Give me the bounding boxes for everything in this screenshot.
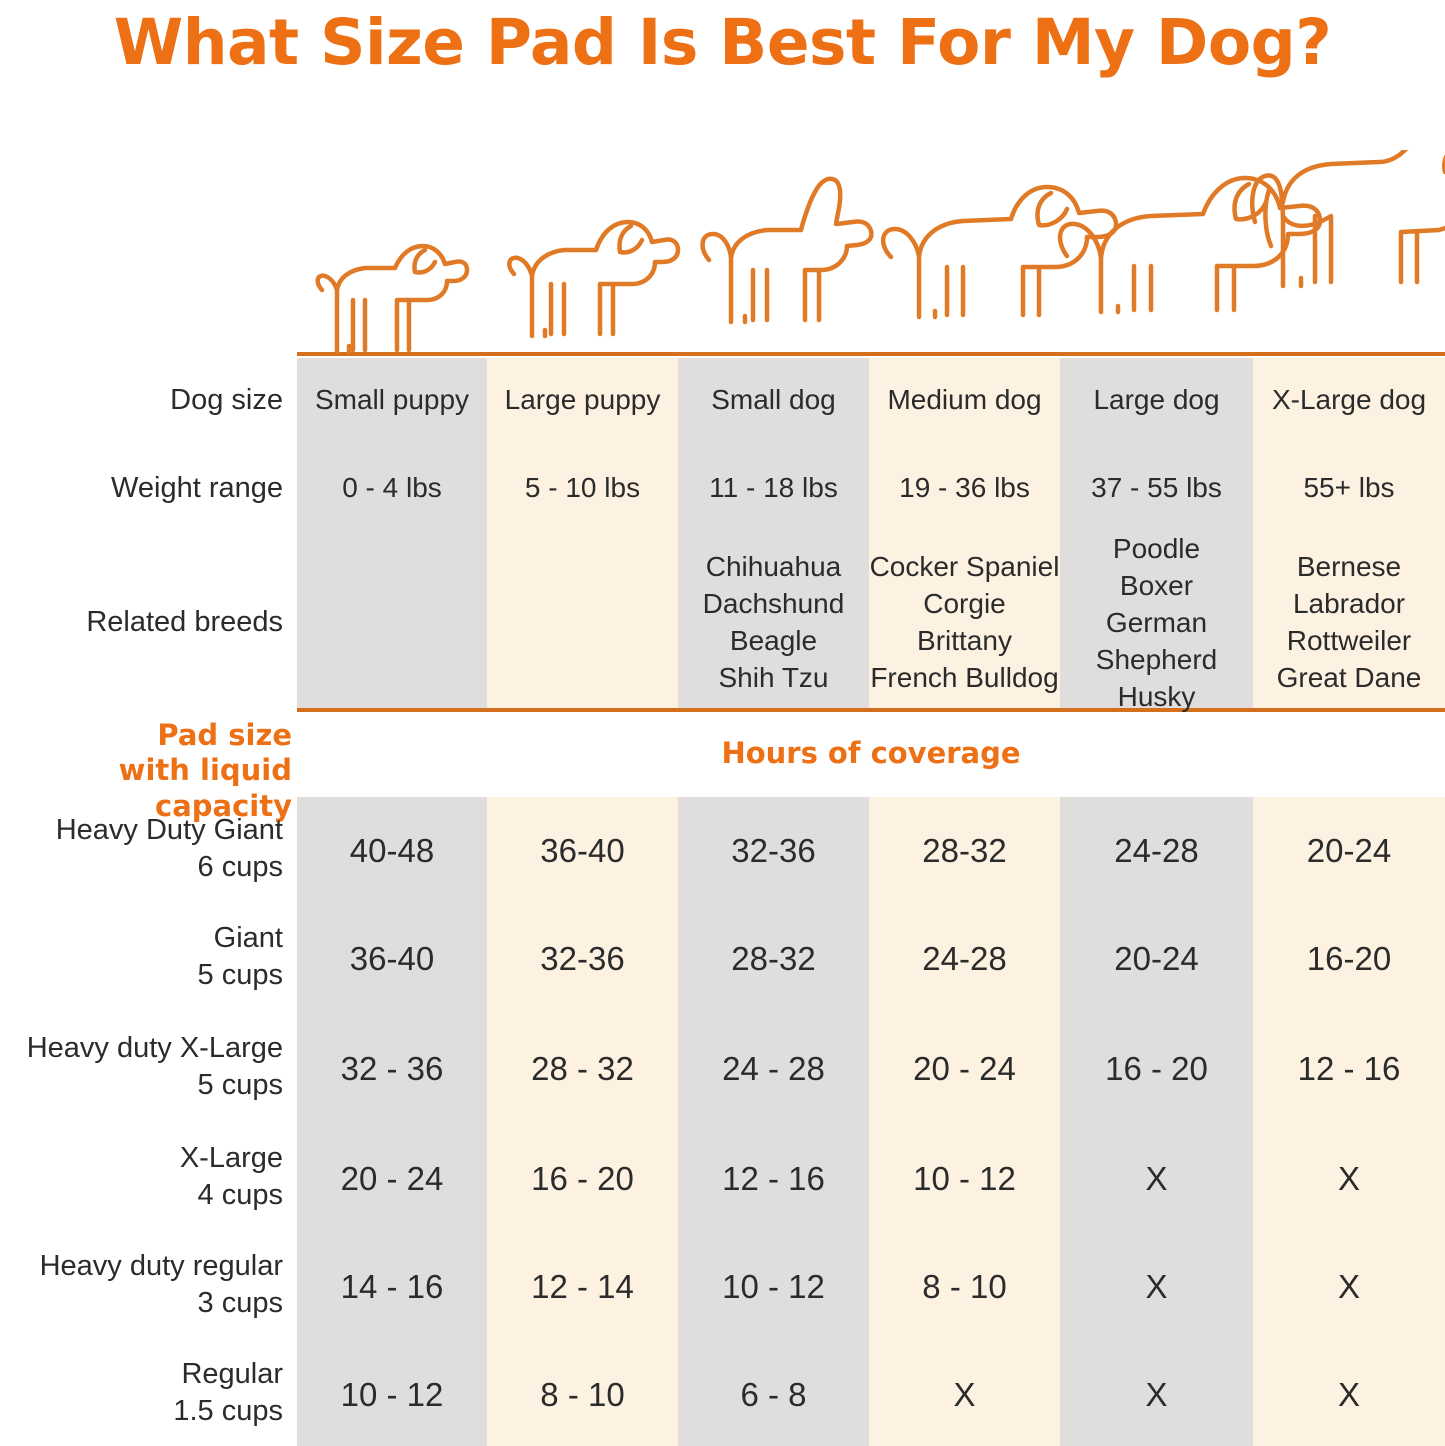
small-puppy-dog-icon <box>318 246 467 352</box>
breed-name: Shepherd <box>1060 641 1253 678</box>
dog-silhouette-strip <box>297 150 1445 355</box>
hours-cell: 36-40 <box>487 830 678 873</box>
hours-cell: 12 - 16 <box>678 1158 869 1201</box>
row-label-related-breeds: Related breeds <box>0 604 283 641</box>
breed-name: German <box>1060 604 1253 641</box>
pad-name: X-Large <box>0 1140 283 1177</box>
column-band-6 <box>1253 797 1445 1446</box>
hours-cell: 24 - 28 <box>678 1048 869 1091</box>
breed-name: Labrador <box>1253 585 1445 622</box>
related-breeds-cell: ChihuahuaDachshundBeagleShih Tzu <box>678 548 869 696</box>
column-band-4 <box>869 797 1060 1446</box>
pad-capacity: 1.5 cups <box>0 1393 283 1430</box>
pad-capacity: 3 cups <box>0 1285 283 1322</box>
dog-size-cell: Large puppy <box>487 382 678 418</box>
pad-capacity: 5 cups <box>0 957 283 994</box>
hours-cell: 8 - 10 <box>869 1266 1060 1309</box>
hours-cell: 28-32 <box>678 938 869 981</box>
small-dog-icon <box>703 179 872 322</box>
pad-row-label: Heavy Duty Giant6 cups <box>0 812 283 886</box>
breed-name: Corgie <box>869 585 1060 622</box>
hours-cell: 32-36 <box>487 938 678 981</box>
hours-cell: 6 - 8 <box>678 1374 869 1417</box>
hours-cell: X <box>1253 1374 1445 1417</box>
related-breeds-cell: PoodleBoxerGermanShepherdHusky <box>1060 530 1253 715</box>
hours-cell: 24-28 <box>1060 830 1253 873</box>
breed-name: Beagle <box>678 622 869 659</box>
x-large-dog-icon <box>1252 150 1445 286</box>
hours-cell: 12 - 14 <box>487 1266 678 1309</box>
pad-row-label: Heavy duty X-Large5 cups <box>0 1030 283 1104</box>
pad-name: Heavy duty X-Large <box>0 1030 283 1067</box>
column-band-2 <box>487 797 678 1446</box>
pad-capacity: 4 cups <box>0 1177 283 1214</box>
pad-row-label: Giant5 cups <box>0 920 283 994</box>
hours-cell: 24-28 <box>869 938 1060 981</box>
column-band-1 <box>297 797 487 1446</box>
breed-name: Poodle <box>1060 530 1253 567</box>
hours-cell: 10 - 12 <box>297 1374 487 1417</box>
pad-name: Heavy Duty Giant <box>0 812 283 849</box>
dog-size-cell: Small puppy <box>297 382 487 418</box>
pad-row-label: X-Large4 cups <box>0 1140 283 1214</box>
large-puppy-dog-icon <box>509 222 678 336</box>
hours-cell: 32 - 36 <box>297 1048 487 1091</box>
weight-range-cell: 19 - 36 lbs <box>869 470 1060 506</box>
dog-size-cell: Large dog <box>1060 382 1253 418</box>
page-title: What Size Pad Is Best For My Dog? <box>0 6 1445 79</box>
row-label-dog-size: Dog size <box>0 382 283 419</box>
hours-cell: 28 - 32 <box>487 1048 678 1091</box>
pad-row-label: Regular1.5 cups <box>0 1356 283 1430</box>
weight-range-cell: 11 - 18 lbs <box>678 470 869 506</box>
hours-cell: 10 - 12 <box>678 1266 869 1309</box>
hours-cell: 32-36 <box>678 830 869 873</box>
breed-name: Cocker Spaniel <box>869 548 1060 585</box>
hours-cell: 28-32 <box>869 830 1060 873</box>
hours-cell: 20-24 <box>1060 938 1253 981</box>
breed-name: French Bulldog <box>869 659 1060 696</box>
hours-cell: 20 - 24 <box>297 1158 487 1201</box>
weight-range-cell: 0 - 4 lbs <box>297 470 487 506</box>
hours-cell: 36-40 <box>297 938 487 981</box>
hours-cell: 20-24 <box>1253 830 1445 873</box>
hours-cell: 14 - 16 <box>297 1266 487 1309</box>
column-band-5 <box>1060 797 1253 1446</box>
weight-range-cell: 37 - 55 lbs <box>1060 470 1253 506</box>
hours-cell: 12 - 16 <box>1253 1048 1445 1091</box>
medium-dog-icon <box>883 187 1116 317</box>
hours-cell: 40-48 <box>297 830 487 873</box>
row-label-weight-range: Weight range <box>0 470 283 507</box>
hours-cell: 8 - 10 <box>487 1374 678 1417</box>
pad-size-heading-line1: Pad size <box>0 718 292 753</box>
pad-name: Heavy duty regular <box>0 1248 283 1285</box>
hours-of-coverage-heading: Hours of coverage <box>297 736 1445 771</box>
hours-cell: X <box>1253 1266 1445 1309</box>
dog-size-cell: Medium dog <box>869 382 1060 418</box>
pad-name: Regular <box>0 1356 283 1393</box>
hours-cell: 20 - 24 <box>869 1048 1060 1091</box>
dog-size-cell: Small dog <box>678 382 869 418</box>
column-band-3 <box>678 797 869 1446</box>
hours-cell: 16 - 20 <box>1060 1048 1253 1091</box>
breed-name: Bernese <box>1253 548 1445 585</box>
hours-cell: X <box>1060 1266 1253 1309</box>
related-breeds-cell: Cocker SpanielCorgieBrittanyFrench Bulld… <box>869 548 1060 696</box>
hours-cell: X <box>1253 1158 1445 1201</box>
weight-range-cell: 5 - 10 lbs <box>487 470 678 506</box>
breed-name: Dachshund <box>678 585 869 622</box>
breed-name: Chihuahua <box>678 548 869 585</box>
breed-name: Great Dane <box>1253 659 1445 696</box>
breed-name: Boxer <box>1060 567 1253 604</box>
hours-cell: 16-20 <box>1253 938 1445 981</box>
breed-name: Shih Tzu <box>678 659 869 696</box>
middle-divider-rule <box>297 708 1445 712</box>
hours-cell: 10 - 12 <box>869 1158 1060 1201</box>
breed-name: Brittany <box>869 622 1060 659</box>
dog-size-cell: X-Large dog <box>1253 382 1445 418</box>
weight-range-cell: 55+ lbs <box>1253 470 1445 506</box>
breed-name: Husky <box>1060 678 1253 715</box>
pad-size-heading: Pad size with liquid capacity <box>0 718 292 824</box>
pad-capacity: 6 cups <box>0 849 283 886</box>
hours-cell: X <box>1060 1158 1253 1201</box>
pad-capacity: 5 cups <box>0 1067 283 1104</box>
hours-cell: 16 - 20 <box>487 1158 678 1201</box>
related-breeds-cell: BerneseLabradorRottweilerGreat Dane <box>1253 548 1445 696</box>
pad-name: Giant <box>0 920 283 957</box>
hours-cell: X <box>1060 1374 1253 1417</box>
pad-row-label: Heavy duty regular3 cups <box>0 1248 283 1322</box>
hours-cell: X <box>869 1374 1060 1417</box>
breed-name: Rottweiler <box>1253 622 1445 659</box>
